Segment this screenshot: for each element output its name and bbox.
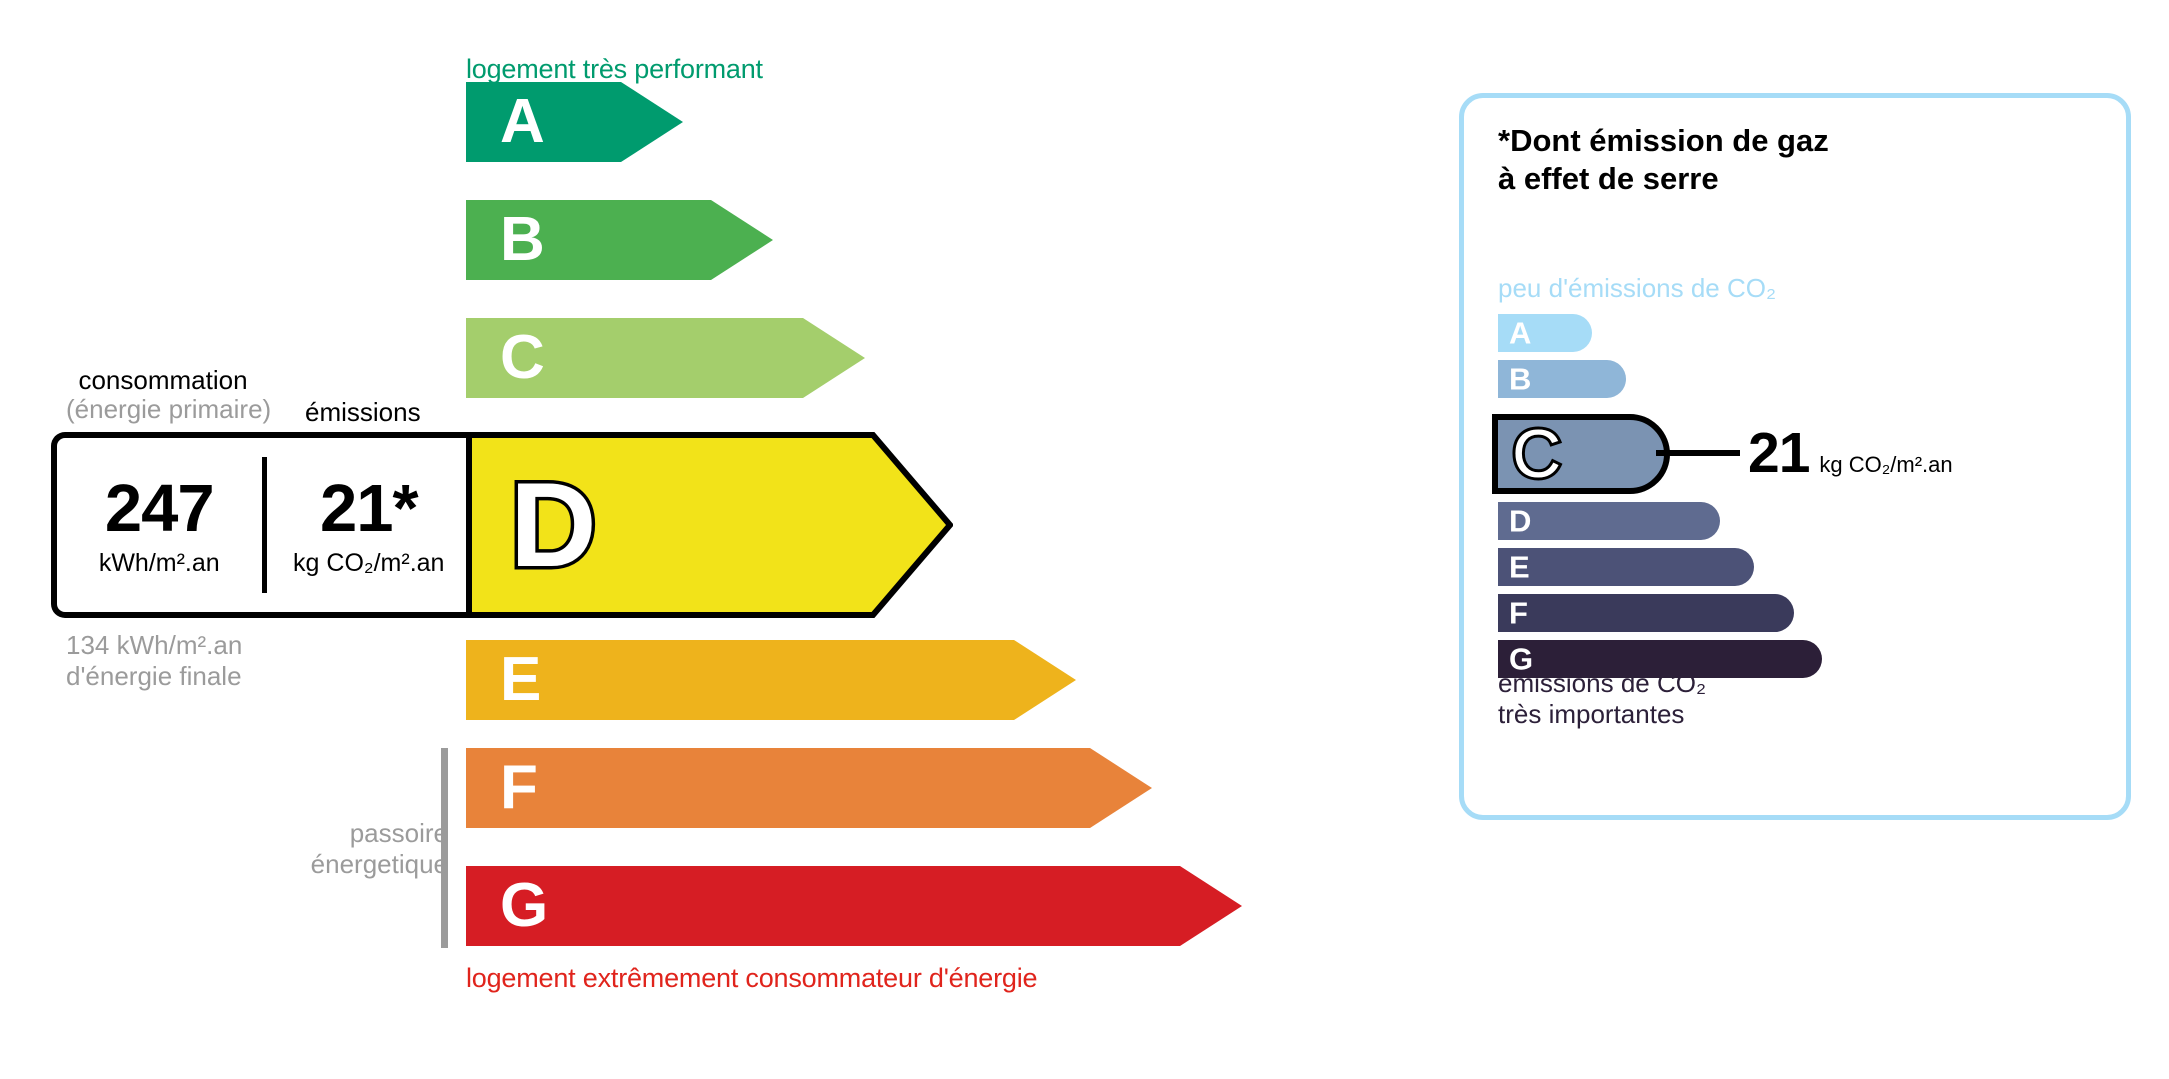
energy-letter-f: F <box>500 757 538 819</box>
energy-bottom-caption: logement extrêmement consommateur d'éner… <box>466 963 1037 994</box>
co2-top-caption: peu d'émissions de CO₂ <box>1498 273 1776 304</box>
energy-row-f: F <box>466 748 1152 828</box>
co2-letter-f: F <box>1509 598 1528 629</box>
co2-bottom-caption: émissions de CO₂ très importantes <box>1498 668 1706 730</box>
co2-row-d: D <box>1498 502 1720 540</box>
energy-row-g: G <box>466 866 1242 946</box>
co2-row-c-selected: C <box>1492 414 1670 494</box>
co2-row-b: B <box>1498 360 1626 398</box>
emissions-cell: 21* kg CO₂/m².an <box>267 475 472 576</box>
emissions-value: 21* <box>267 475 472 542</box>
co2-callout-connector <box>1656 450 1740 456</box>
energy-arrow-f: F <box>466 748 1152 828</box>
energy-letter-a: A <box>500 91 545 153</box>
arrow-shape-icon <box>466 82 683 162</box>
final-energy-note: 134 kWh/m².an d'énergie finale <box>66 630 242 692</box>
co2-letter-b: B <box>1509 364 1531 395</box>
co2-callout-unit: kg CO₂/m².an <box>1819 452 1952 478</box>
energy-letter-d: D <box>510 465 597 585</box>
co2-letter-a: A <box>1509 318 1531 349</box>
co2-letter-e: E <box>1509 552 1530 583</box>
energy-row-e: E <box>466 640 1076 720</box>
consumption-header-main: consommation <box>78 365 247 395</box>
energy-arrow-c: C <box>466 318 865 398</box>
energy-arrow-d: D <box>466 432 953 618</box>
co2-bar-d: D <box>1498 502 1720 540</box>
consumption-header-sub: (énergie primaire) <box>66 395 260 424</box>
emissions-header: émissions <box>305 398 421 427</box>
energy-row-a: A <box>466 82 683 162</box>
co2-row-e: E <box>1498 548 1754 586</box>
co2-row-a: A <box>1498 314 1592 352</box>
energy-letter-g: G <box>500 875 548 937</box>
emissions-unit: kg CO₂/m².an <box>267 551 472 576</box>
co2-bar-e: E <box>1498 548 1754 586</box>
energy-arrow-b: B <box>466 200 773 280</box>
co2-bar-c: C <box>1492 414 1670 494</box>
energy-arrow-e: E <box>466 640 1076 720</box>
consumption-cell: 247 kWh/m².an <box>57 475 262 576</box>
co2-panel: *Dont émission de gaz à effet de serre p… <box>1459 93 2131 820</box>
energy-letter-e: E <box>500 649 541 711</box>
consumption-value: 247 <box>57 475 262 542</box>
consumption-header: consommation (énergie primaire) <box>66 366 260 424</box>
co2-bar-b: B <box>1498 360 1626 398</box>
co2-letter-d: D <box>1509 506 1531 537</box>
energy-top-caption: logement très performant <box>466 54 763 85</box>
energy-row-b: B <box>466 200 773 280</box>
arrow-shape-icon <box>466 640 1076 720</box>
arrow-shape-icon <box>466 866 1242 946</box>
co2-panel-title: *Dont émission de gaz à effet de serre <box>1498 122 1829 198</box>
co2-callout: 21 kg CO₂/m².an <box>1748 420 1953 486</box>
co2-letter-c: C <box>1512 420 1561 488</box>
energy-arrow-a: A <box>466 82 683 162</box>
arrow-shape-icon <box>466 748 1152 828</box>
energy-arrow-g: G <box>466 866 1242 946</box>
co2-row-f: F <box>1498 594 1794 632</box>
co2-bar-a: A <box>1498 314 1592 352</box>
passoire-label: passoire énergetique <box>288 818 448 879</box>
energy-row-c: C <box>466 318 865 398</box>
energy-letter-b: B <box>500 209 545 271</box>
co2-callout-value: 21 <box>1748 420 1809 486</box>
co2-bar-f: F <box>1498 594 1794 632</box>
energy-letter-c: C <box>500 327 545 389</box>
consumption-unit: kWh/m².an <box>57 551 262 576</box>
energy-value-box: 247 kWh/m².an 21* kg CO₂/m².an <box>51 432 471 618</box>
